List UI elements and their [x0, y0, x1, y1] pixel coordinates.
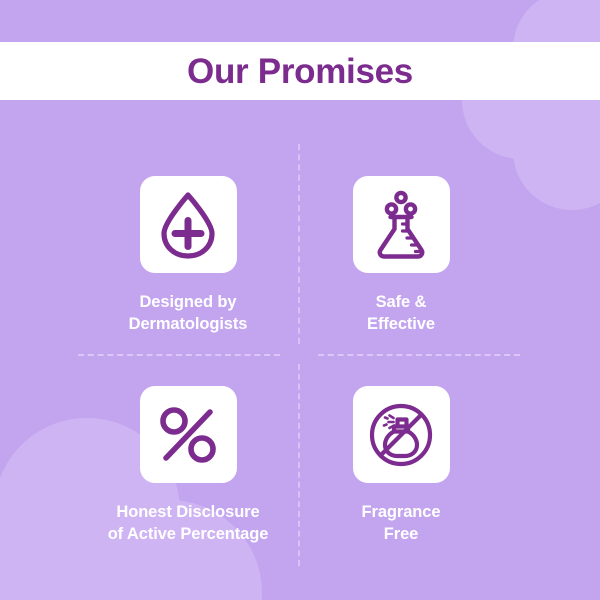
page-title: Our Promises: [187, 54, 413, 89]
promise-icon-card: [140, 176, 237, 273]
no-fragrance-icon: [368, 402, 434, 468]
promise-item-fragrance-free: Fragrance Free: [276, 386, 526, 546]
promise-label: Honest Disclosure of Active Percentage: [108, 501, 269, 546]
promises-banner: Our Promises Designed by Dermatologists: [0, 0, 600, 600]
percent-icon: [157, 404, 219, 466]
promise-icon-card: [353, 176, 450, 273]
promise-grid: Designed by Dermatologists: [0, 110, 600, 580]
promise-label: Fragrance Free: [362, 501, 441, 546]
header-band: Our Promises: [0, 42, 600, 100]
promise-icon-card: [140, 386, 237, 483]
promise-item-safe-effective: Safe & Effective: [276, 176, 526, 336]
droplet-plus-icon: [156, 191, 220, 259]
promise-label: Safe & Effective: [367, 291, 435, 336]
quatrefoil-lobe-bottom: [0, 582, 180, 600]
promise-label: Designed by Dermatologists: [129, 291, 248, 336]
promise-icon-card: [353, 386, 450, 483]
flask-bubbles-icon: [369, 190, 433, 260]
